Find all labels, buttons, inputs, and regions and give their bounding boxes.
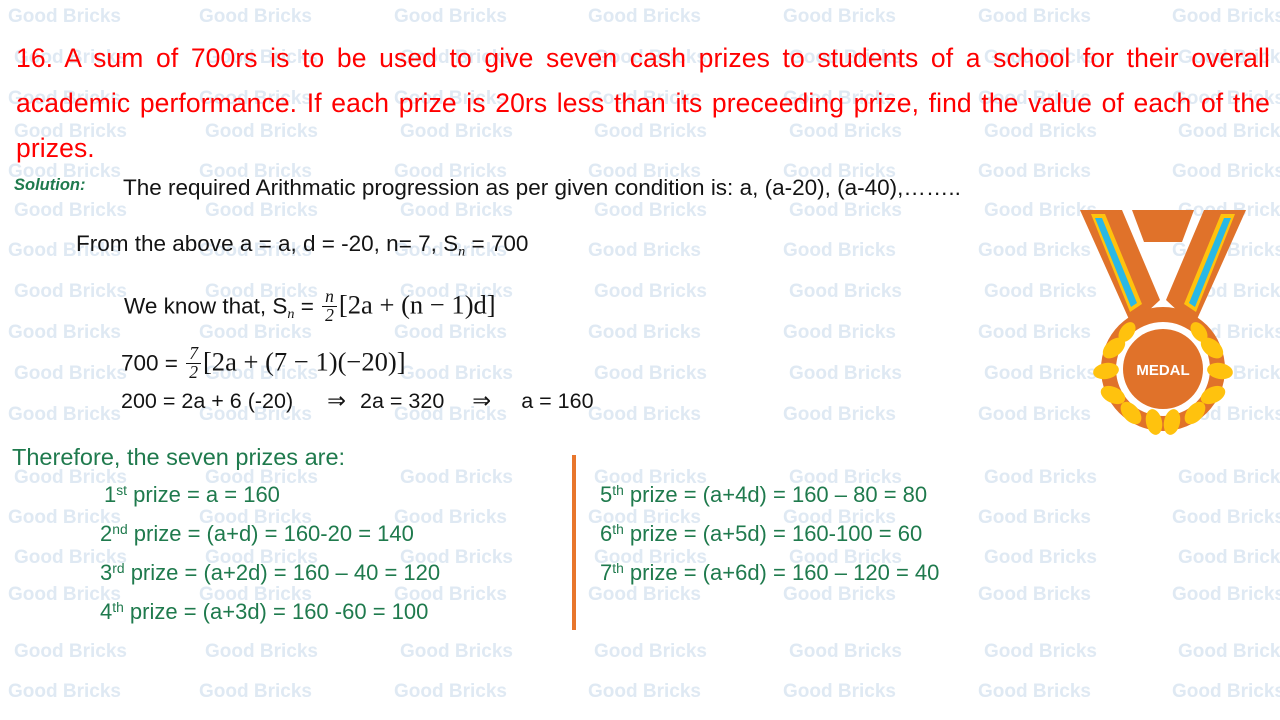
solution-label: Solution:	[14, 176, 85, 195]
solution-line-1: The required Arithmatic progression as p…	[123, 175, 961, 201]
implies-arrow-icon-1: ⇒	[299, 388, 360, 413]
prize-6-ordinal: 6	[600, 521, 612, 546]
result-heading: Therefore, the seven prizes are:	[12, 444, 345, 471]
solution-line-3: We know that, Sn = n2[2a + (n − 1)d]	[124, 288, 496, 325]
line4-bracket-body: [2a + (7 − 1)(−20)]	[203, 347, 406, 377]
implies-arrow-icon-2: ⇒	[450, 388, 521, 413]
line3-equals: =	[295, 294, 321, 319]
line3-subscript: n	[287, 306, 294, 322]
line2-pre: From the above a = a, d = -20, n= 7, S	[76, 231, 458, 256]
medal-award-icon: MEDAL	[1074, 208, 1252, 438]
prize-7-suffix: th	[612, 560, 624, 576]
prize-4-text: prize = (a+3d) = 160 -60 = 100	[124, 599, 429, 624]
prize-item-2: 2nd prize = (a+d) = 160-20 = 140	[100, 521, 414, 547]
solution-line-4: 700 = 72[2a + (7 − 1)(−20)]	[121, 345, 406, 382]
prize-item-6: 6th prize = (a+5d) = 160-100 = 60	[600, 521, 922, 547]
prize-1-text: prize = a = 160	[127, 482, 280, 507]
line4-fraction: 72	[186, 345, 201, 382]
line4-fraction-numerator: 7	[186, 345, 201, 363]
prize-2-ordinal: 2	[100, 521, 112, 546]
line5-part-c: a = 160	[521, 389, 593, 413]
prize-item-3: 3rd prize = (a+2d) = 160 – 40 = 120	[100, 560, 440, 586]
prize-2-text: prize = (a+d) = 160-20 = 140	[128, 521, 414, 546]
prize-item-7: 7th prize = (a+6d) = 160 – 120 = 40	[600, 560, 939, 586]
prize-5-suffix: th	[612, 482, 624, 498]
line3-fraction-numerator: n	[322, 288, 337, 306]
line5-part-b: 2a = 320	[360, 389, 444, 413]
medal-label: MEDAL	[1136, 362, 1189, 379]
line2-post: = 700	[465, 231, 528, 256]
prize-2-suffix: nd	[112, 521, 127, 537]
line3-bracket-body: [2a + (n − 1)d]	[339, 290, 496, 320]
prize-6-suffix: th	[612, 521, 624, 537]
question-text: 16. A sum of 700rs is to be used to give…	[16, 36, 1270, 170]
prize-1-ordinal: 1	[104, 482, 116, 507]
prize-1-suffix: st	[116, 482, 127, 498]
prize-3-ordinal: 3	[100, 560, 112, 585]
medal-ribbon-center	[1132, 210, 1194, 242]
prize-4-ordinal: 4	[100, 599, 112, 624]
solution-line-5: 200 = 2a + 6 (-20) ⇒2a = 320 ⇒a = 160	[121, 388, 594, 414]
prize-6-text: prize = (a+5d) = 160-100 = 60	[624, 521, 922, 546]
prize-item-1: 1st prize = a = 160	[104, 482, 280, 508]
prize-item-4: 4th prize = (a+3d) = 160 -60 = 100	[100, 599, 428, 625]
column-divider	[572, 455, 576, 630]
line4-pre: 700 =	[121, 351, 184, 376]
prize-5-text: prize = (a+4d) = 160 – 80 = 80	[624, 482, 927, 507]
slide-content: 16. A sum of 700rs is to be used to give…	[0, 0, 1280, 720]
prize-4-suffix: th	[112, 599, 124, 615]
line3-fraction: n2	[322, 288, 337, 325]
line3-fraction-denominator: 2	[322, 306, 337, 325]
prize-3-text: prize = (a+2d) = 160 – 40 = 120	[125, 560, 441, 585]
prize-3-suffix: rd	[112, 560, 124, 576]
solution-line-2: From the above a = a, d = -20, n= 7, Sn …	[76, 231, 528, 261]
line3-pre: We know that, S	[124, 294, 287, 319]
prize-5-ordinal: 5	[600, 482, 612, 507]
prize-item-5: 5th prize = (a+4d) = 160 – 80 = 80	[600, 482, 927, 508]
line4-fraction-denominator: 2	[186, 363, 201, 382]
prize-7-ordinal: 7	[600, 560, 612, 585]
prize-7-text: prize = (a+6d) = 160 – 120 = 40	[624, 560, 940, 585]
line5-part-a: 200 = 2a + 6 (-20)	[121, 389, 293, 413]
